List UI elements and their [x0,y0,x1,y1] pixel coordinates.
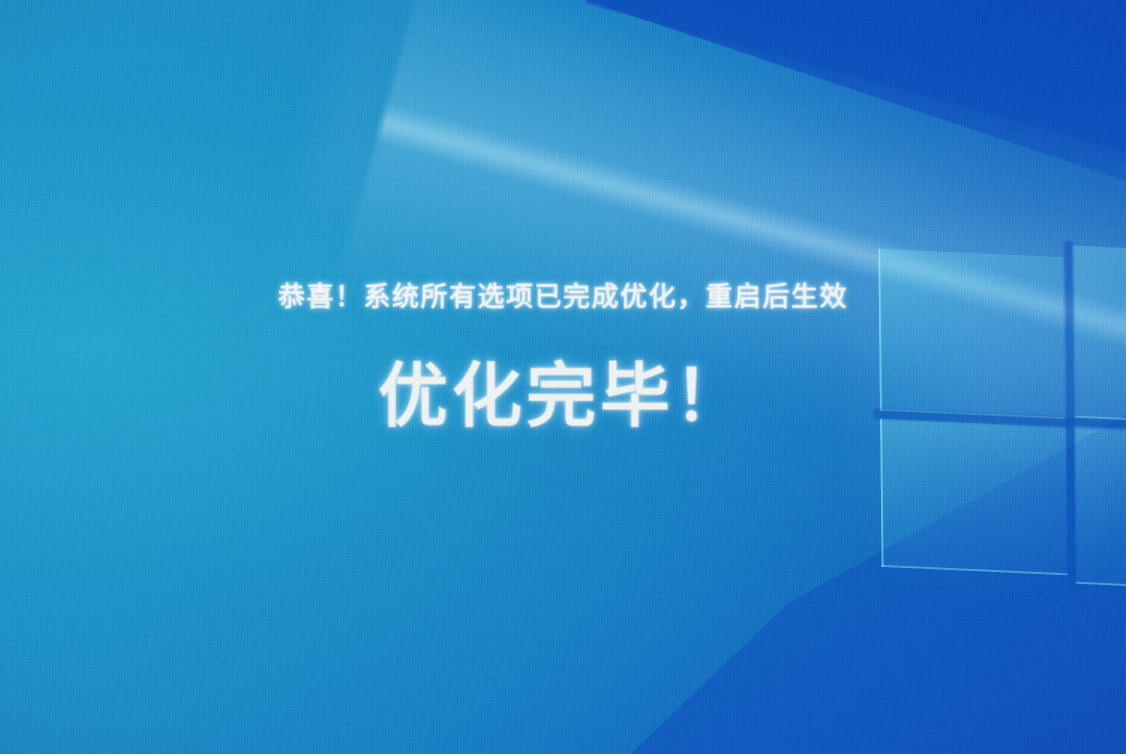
camera-vignette [0,0,1126,754]
screen-capture: 恭喜！系统所有选项已完成优化，重启后生效 优化完毕！ [0,0,1126,754]
